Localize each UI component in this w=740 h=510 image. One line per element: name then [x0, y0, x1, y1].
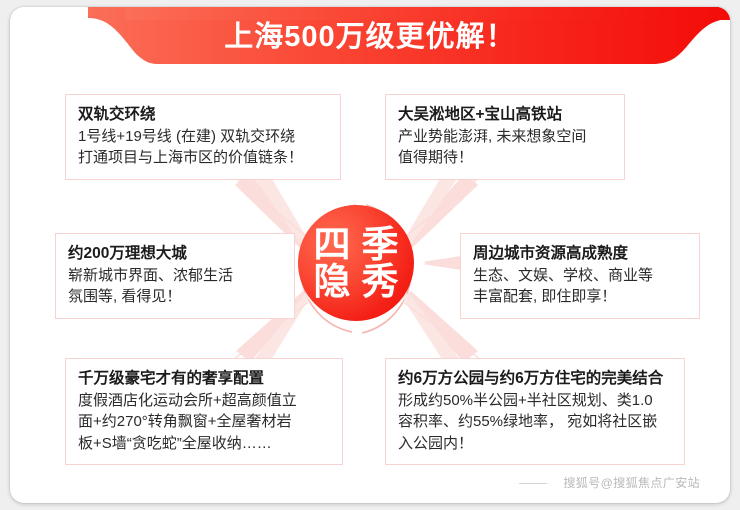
- info-box-heading: 千万级豪宅才有的奢享配置: [78, 368, 330, 390]
- info-box-line: 板+S墙“贪吃蛇”全屋收纳……: [78, 433, 330, 454]
- hub-char-3: 隐: [308, 263, 356, 300]
- info-box-top-left: 双轨交环绕 1号线+19号线 (在建) 双轨交环绕 打通项目与上海市区的价值链条…: [65, 94, 341, 180]
- info-box-line: 面+约270°转角飘窗+全屋奢材岩: [78, 411, 330, 432]
- info-box-line: 1号线+19号线 (在建) 双轨交环绕: [78, 126, 328, 147]
- hub-char-1: 四: [308, 226, 356, 263]
- watermark-rule: [519, 483, 547, 484]
- info-box-line: 产业势能澎湃, 未来想象空间: [398, 126, 612, 147]
- info-box-line: 形成约50%半公园+半社区规划、类1.0: [398, 390, 672, 411]
- info-box-middle-right: 周边城市资源高成熟度 生态、文娱、学校、商业等 丰富配套, 即住即享！: [460, 233, 700, 319]
- info-box-line: 丰富配套, 即住即享！: [473, 286, 687, 307]
- info-box-line: 值得期待！: [398, 147, 612, 168]
- info-box-heading: 约200万理想大城: [68, 243, 282, 265]
- center-hub: 四 季 隐 秀: [298, 205, 414, 321]
- info-box-heading: 双轨交环绕: [78, 104, 328, 126]
- info-box-line: 度假酒店化运动会所+超高颜值立: [78, 390, 330, 411]
- info-box-line: 容积率、约55%绿地率， 宛如将社区嵌: [398, 411, 672, 432]
- watermark: 搜狐号@搜狐焦点广安站: [563, 474, 700, 491]
- info-box-line: 打通项目与上海市区的价值链条！: [78, 147, 328, 168]
- infographic-card: 上海500万级更优解！: [10, 7, 730, 503]
- info-box-line: 入公园内！: [398, 433, 672, 454]
- hub-char-4: 秀: [356, 263, 404, 300]
- info-box-heading: 约6万方公园与约6万方住宅的完美结合: [398, 368, 672, 390]
- info-box-line: 生态、文娱、学校、商业等: [473, 265, 687, 286]
- info-box-line: 氛围等, 看得见！: [68, 286, 282, 307]
- info-box-top-right: 大吴淞地区+宝山高铁站 产业势能澎湃, 未来想象空间 值得期待！: [385, 94, 625, 180]
- info-box-bottom-right: 约6万方公园与约6万方住宅的完美结合 形成约50%半公园+半社区规划、类1.0 …: [385, 358, 685, 465]
- header-banner: 上海500万级更优解！: [10, 7, 730, 69]
- hub-char-2: 季: [356, 226, 404, 263]
- page-title: 上海500万级更优解！: [10, 7, 730, 69]
- info-box-bottom-left: 千万级豪宅才有的奢享配置 度假酒店化运动会所+超高颜值立 面+约270°转角飘窗…: [65, 358, 343, 465]
- info-box-middle-left: 约200万理想大城 崭新城市界面、浓郁生活 氛围等, 看得见！: [55, 233, 295, 319]
- hub-label: 四 季 隐 秀: [308, 226, 404, 300]
- info-box-heading: 周边城市资源高成熟度: [473, 243, 687, 265]
- info-box-heading: 大吴淞地区+宝山高铁站: [398, 104, 612, 126]
- info-box-line: 崭新城市界面、浓郁生活: [68, 265, 282, 286]
